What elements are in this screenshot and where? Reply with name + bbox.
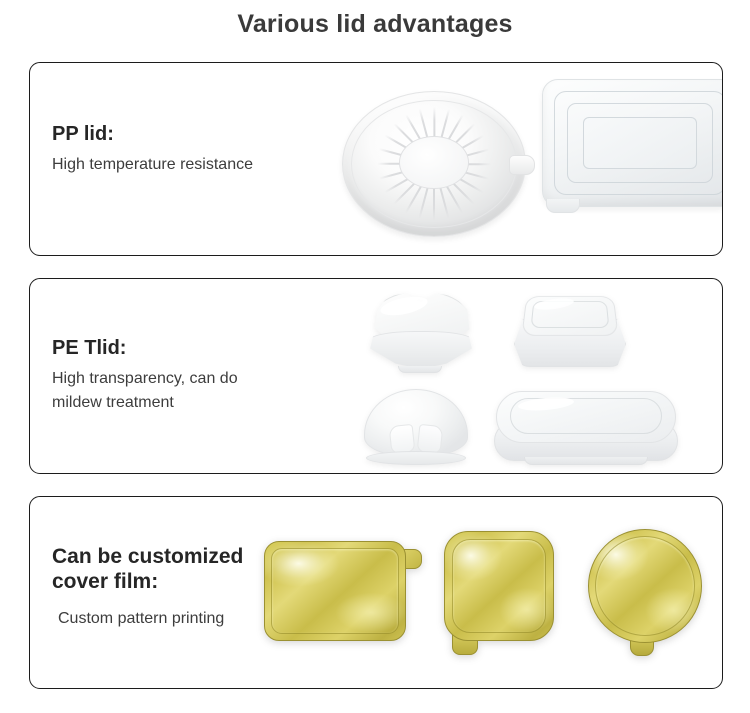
card-subtext-cover-film: Custom pattern printing — [52, 607, 243, 632]
card-heading-pe: PE Tlid: — [52, 337, 238, 361]
gold-square-foil-lid-image — [444, 531, 554, 641]
card-figures-pe — [350, 279, 722, 473]
pe-oval-lid-feet — [524, 457, 648, 465]
card-heading-pp: PP lid: — [52, 123, 253, 147]
pe-dome-lid-cap — [364, 389, 468, 457]
gold-square-lid-inner-emboss — [452, 539, 546, 633]
pp-rectangular-lid-image — [542, 79, 723, 207]
advantage-card-pp-lid: PP lid: High temperature resistance — [29, 62, 723, 256]
pe-heart-lid-skirt — [368, 331, 474, 369]
pe-round-dome-lid-image — [364, 389, 468, 465]
advantage-card-cover-film: Can be customized cover film: Custom pat… — [29, 496, 723, 689]
card-text-block-cover-film: Can be customized cover film: Custom pat… — [52, 545, 243, 631]
pe-heart-lid-feet — [398, 366, 442, 373]
card-text-block-pe: PE Tlid: High transparency, can do milde… — [52, 337, 238, 416]
card-figures-pp — [320, 63, 722, 255]
card-heading-cover-film: Can be customized cover film: — [52, 545, 243, 595]
pp-rect-lid-ridge-inner — [583, 117, 697, 168]
pe-dome-lid-lobe-left — [389, 424, 416, 454]
pp-round-lid-center — [399, 136, 469, 189]
card-figures-cover-film — [258, 497, 722, 688]
advantage-card-pe-lid: PE Tlid: High transparency, can do milde… — [29, 278, 723, 474]
pp-round-lid-image — [342, 91, 526, 237]
pe-square-dome-lid-image — [514, 293, 626, 371]
pe-dome-lid-lobe-right — [417, 424, 444, 454]
lid-advantages-page: Various lid advantages PP lid: High temp… — [0, 0, 750, 713]
gold-round-foil-lid-image — [588, 529, 702, 643]
card-text-block-pp: PP lid: High temperature resistance — [52, 123, 253, 177]
pe-dome-lid-ring — [366, 451, 466, 465]
pp-rect-lid-notch — [546, 199, 580, 213]
gold-round-lid-inner-emboss — [595, 536, 695, 636]
card-subtext-pp: High temperature resistance — [52, 153, 253, 178]
pe-heart-dome-lid-image — [366, 291, 476, 375]
page-title: Various lid advantages — [0, 10, 750, 39]
gold-rectangular-foil-lid-image — [264, 541, 406, 641]
card-subtext-pe: High transparency, can do mildew treatme… — [52, 367, 238, 417]
pe-oval-lid-image — [494, 391, 678, 465]
gold-rect-lid-inner-emboss — [271, 548, 399, 634]
pp-round-lid-tab — [509, 155, 535, 175]
